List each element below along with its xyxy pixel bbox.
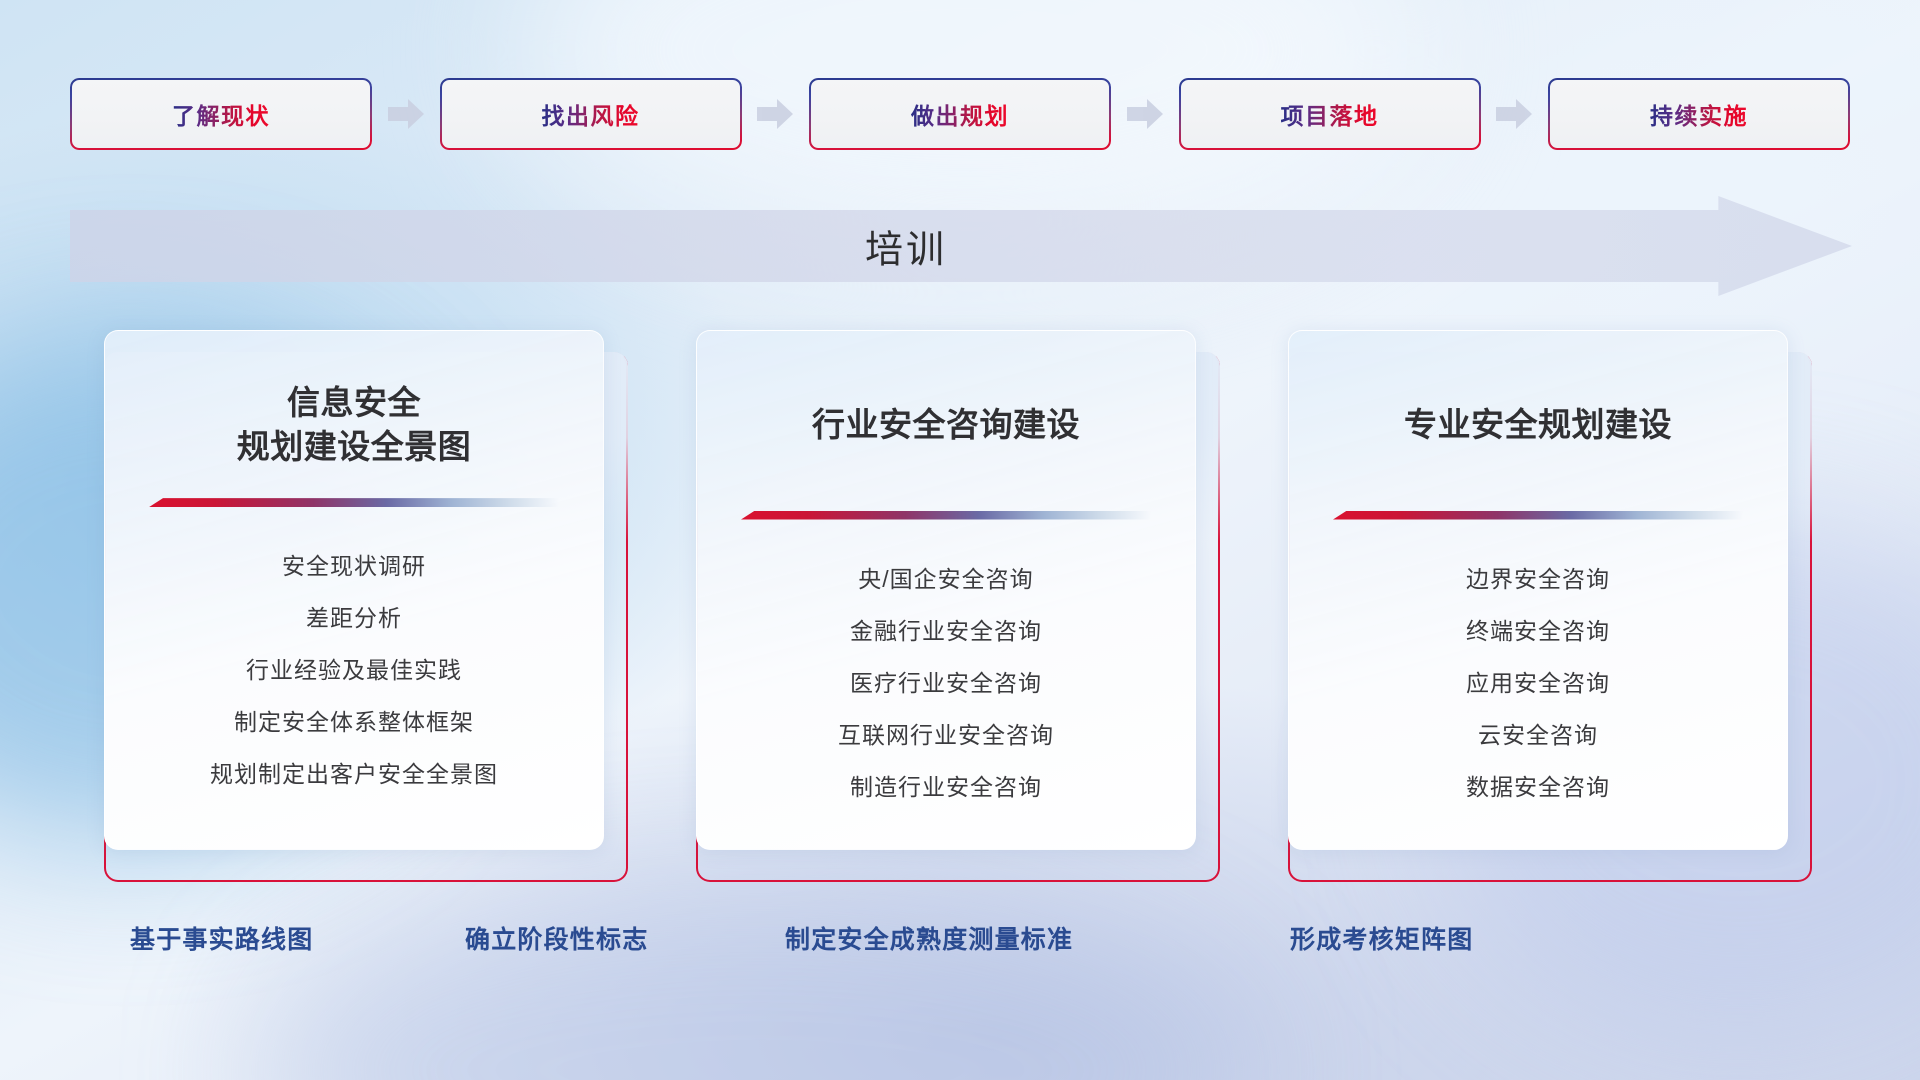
card-wrapper-1: 信息安全 规划建设全景图 安全现状调研 差距分析 行业经验及最佳实践 制定安全体… bbox=[104, 330, 634, 890]
card-panel-3[interactable]: 专业安全规划建设 边界安全咨询 终端安全咨询 应用安全咨询 云安全咨询 数据安全… bbox=[1288, 330, 1788, 850]
list-item: 安全现状调研 bbox=[282, 547, 426, 581]
arrow-right-icon bbox=[1496, 99, 1532, 129]
step-label: 做出规划 bbox=[911, 97, 1009, 131]
list-item: 差距分析 bbox=[306, 599, 402, 633]
list-item: 数据安全咨询 bbox=[1466, 768, 1610, 802]
list-item: 互联网行业安全咨询 bbox=[838, 716, 1054, 750]
card-title: 行业安全咨询建设 bbox=[812, 403, 1080, 447]
arrow-right-icon bbox=[1127, 99, 1163, 129]
list-item: 金融行业安全咨询 bbox=[850, 612, 1042, 646]
list-item: 医疗行业安全咨询 bbox=[850, 664, 1042, 698]
background-blob-bottom bbox=[260, 880, 1260, 1080]
list-item: 行业经验及最佳实践 bbox=[246, 651, 462, 685]
card-divider bbox=[1333, 511, 1743, 520]
card-title: 专业安全规划建设 bbox=[1404, 403, 1672, 447]
step-box-4[interactable]: 项目落地 bbox=[1179, 78, 1481, 150]
step-box-2[interactable]: 找出风险 bbox=[440, 78, 742, 150]
list-item: 云安全咨询 bbox=[1478, 716, 1598, 750]
card-row: 信息安全 规划建设全景图 安全现状调研 差距分析 行业经验及最佳实践 制定安全体… bbox=[104, 330, 1818, 890]
list-item: 制定安全体系整体框架 bbox=[234, 703, 474, 737]
bottom-label-row: 基于事实路线图 确立阶段性标志 制定安全成熟度测量标准 形成考核矩阵图 bbox=[0, 920, 1920, 964]
step-label: 找出风险 bbox=[542, 97, 640, 131]
step-box-5[interactable]: 持续实施 bbox=[1548, 78, 1850, 150]
process-step-row: 了解现状 找出风险 做出规划 项目落地 持续实施 bbox=[70, 78, 1850, 150]
step-label: 持续实施 bbox=[1650, 97, 1748, 131]
card-panel-2[interactable]: 行业安全咨询建设 央/国企安全咨询 金融行业安全咨询 医疗行业安全咨询 互联网行… bbox=[696, 330, 1196, 850]
bottom-label: 制定安全成熟度测量标准 bbox=[785, 920, 1073, 956]
card-item-list: 央/国企安全咨询 金融行业安全咨询 医疗行业安全咨询 互联网行业安全咨询 制造行… bbox=[838, 560, 1054, 802]
card-divider bbox=[741, 511, 1151, 520]
card-title: 信息安全 规划建设全景图 bbox=[237, 381, 472, 468]
banner-title: 培训 bbox=[70, 219, 1852, 274]
list-item: 应用安全咨询 bbox=[1466, 664, 1610, 698]
step-box-3[interactable]: 做出规划 bbox=[809, 78, 1111, 150]
card-wrapper-2: 行业安全咨询建设 央/国企安全咨询 金融行业安全咨询 医疗行业安全咨询 互联网行… bbox=[696, 330, 1226, 890]
list-item: 规划制定出客户安全全景图 bbox=[210, 755, 498, 789]
step-label: 了解现状 bbox=[172, 97, 270, 131]
bottom-label: 确立阶段性标志 bbox=[465, 920, 648, 956]
arrow-right-icon bbox=[388, 99, 424, 129]
card-item-list: 安全现状调研 差距分析 行业经验及最佳实践 制定安全体系整体框架 规划制定出客户… bbox=[210, 547, 498, 789]
list-item: 制造行业安全咨询 bbox=[850, 768, 1042, 802]
step-box-1[interactable]: 了解现状 bbox=[70, 78, 372, 150]
card-panel-1[interactable]: 信息安全 规划建设全景图 安全现状调研 差距分析 行业经验及最佳实践 制定安全体… bbox=[104, 330, 604, 850]
list-item: 央/国企安全咨询 bbox=[858, 560, 1033, 594]
step-label: 项目落地 bbox=[1281, 97, 1379, 131]
card-divider bbox=[149, 498, 559, 507]
training-banner: 培训 bbox=[70, 196, 1852, 296]
bottom-label: 形成考核矩阵图 bbox=[1290, 920, 1473, 956]
list-item: 终端安全咨询 bbox=[1466, 612, 1610, 646]
card-item-list: 边界安全咨询 终端安全咨询 应用安全咨询 云安全咨询 数据安全咨询 bbox=[1466, 560, 1610, 802]
arrow-right-icon bbox=[757, 99, 793, 129]
bottom-label: 基于事实路线图 bbox=[130, 920, 313, 956]
infographic-canvas: 了解现状 找出风险 做出规划 项目落地 持续实施 培训 bbox=[0, 0, 1920, 1080]
list-item: 边界安全咨询 bbox=[1466, 560, 1610, 594]
card-wrapper-3: 专业安全规划建设 边界安全咨询 终端安全咨询 应用安全咨询 云安全咨询 数据安全… bbox=[1288, 330, 1818, 890]
